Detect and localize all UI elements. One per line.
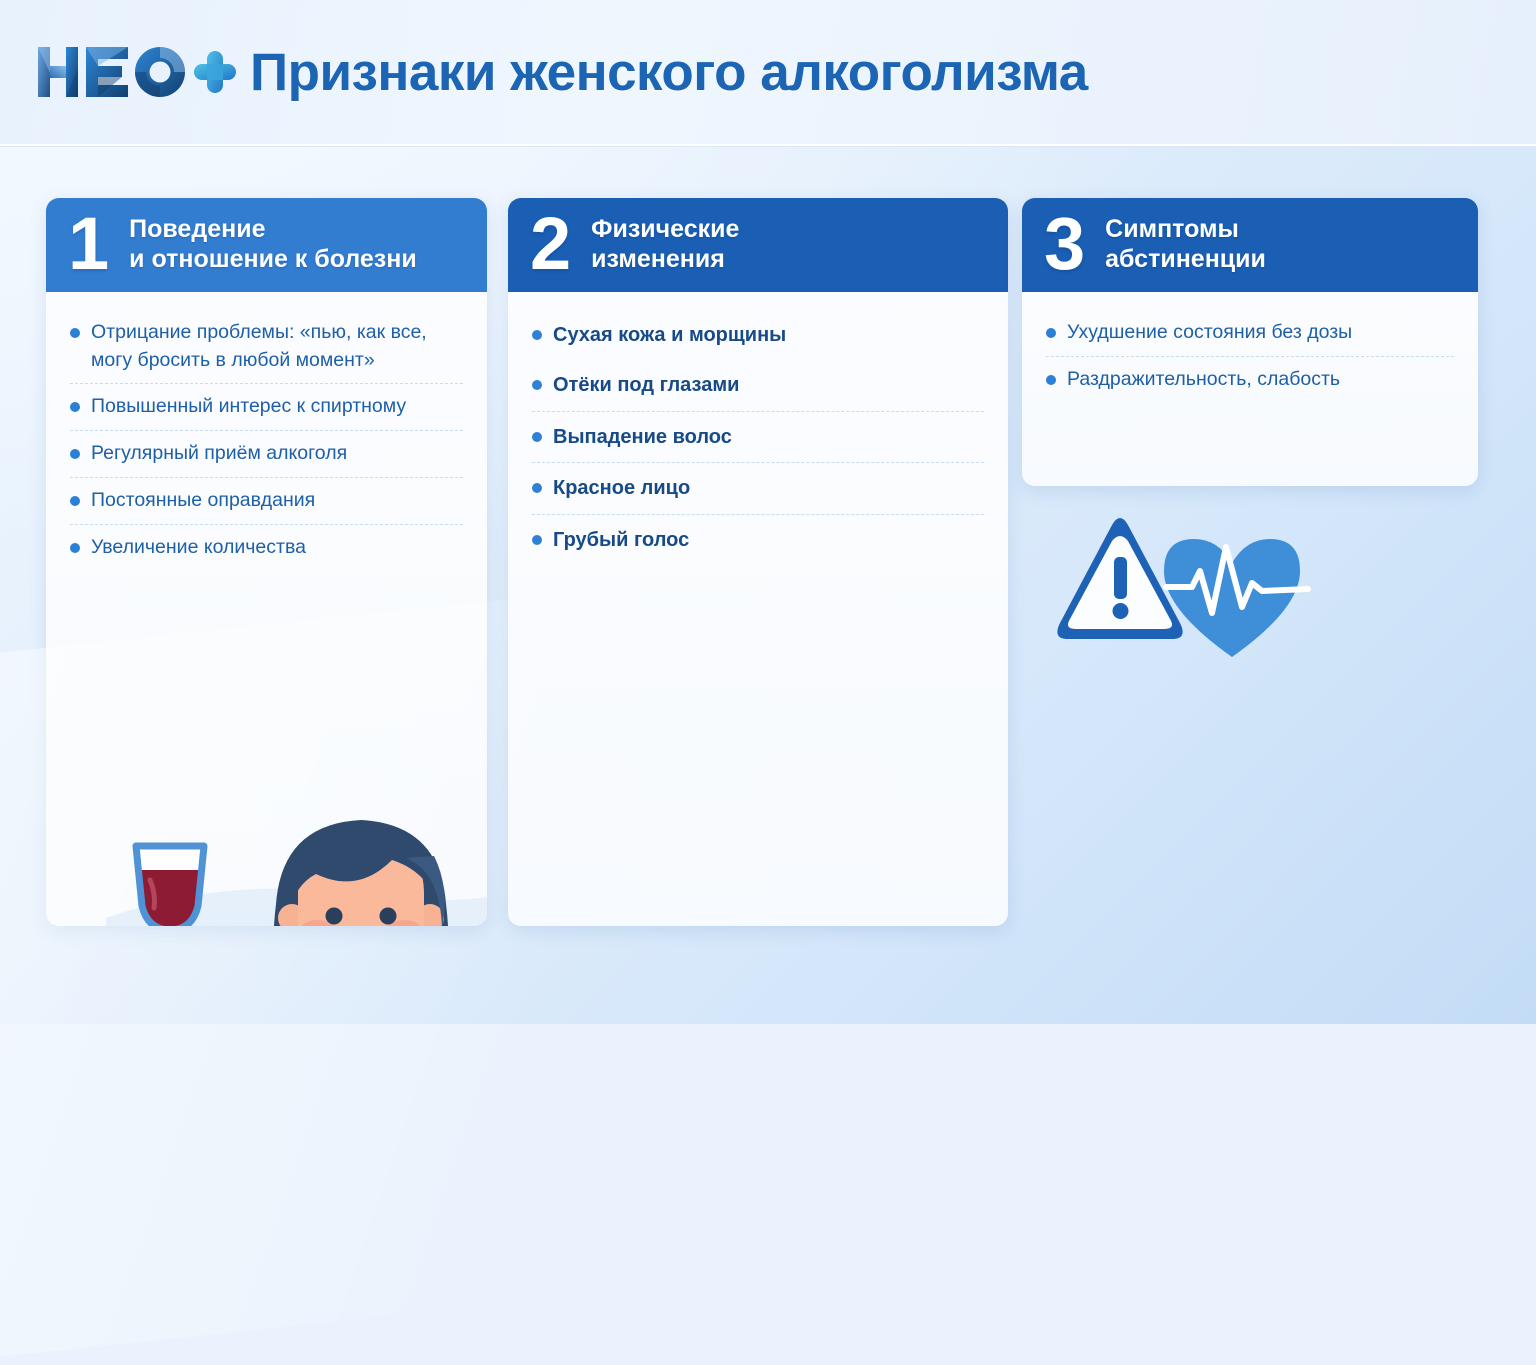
- logo-letter-n: [38, 47, 78, 97]
- bullet-icon: [532, 432, 542, 442]
- card-1-list: Отрицание проблемы: «пью, как все, могу …: [46, 292, 487, 570]
- list-item: Отёки под глазами: [530, 360, 986, 410]
- card-1-title: Поведение и отношение к болезни: [129, 214, 417, 275]
- card-1-title-line1: Поведение: [129, 214, 417, 245]
- logo-plus-icon: [194, 51, 236, 93]
- bullet-icon: [532, 330, 542, 340]
- card-1-header: 1 Поведение и отношение к болезни: [46, 198, 487, 292]
- card-3-list: Ухудшение состояния без дозы Раздражител…: [1022, 292, 1478, 402]
- bullet-icon: [532, 380, 542, 390]
- card-3-header: 3 Симптомы абстиненции: [1022, 198, 1478, 292]
- list-item: Постоянные оправдания: [68, 478, 465, 524]
- woman-eye-right: [380, 908, 397, 925]
- illustration-warning-and-heartbeat: [1046, 505, 1336, 675]
- card-2-title: Физические изменения: [591, 214, 739, 275]
- card-3-title-line2: абстиненции: [1105, 244, 1266, 275]
- list-item: Повышенный интерес к спиртному: [68, 384, 465, 430]
- list-item-label: Ухудшение состояния без дозы: [1067, 319, 1352, 347]
- bullet-icon: [532, 535, 542, 545]
- page-header: Признаки женского алкоголизма: [0, 0, 1536, 146]
- wine-glass-icon: [132, 846, 208, 926]
- bullet-icon: [70, 328, 80, 338]
- bullet-icon: [1046, 328, 1056, 338]
- list-item-label: Отёки под глазами: [553, 371, 739, 399]
- card-3-title: Симптомы абстиненции: [1105, 214, 1266, 275]
- list-item-label: Красное лицо: [553, 474, 690, 502]
- card-behavior: 1 Поведение и отношение к болезни Отрица…: [46, 198, 487, 926]
- infographic-page: Признаки женского алкоголизма 1 Поведени…: [0, 0, 1536, 1024]
- list-item-label: Регулярный приём алкоголя: [91, 440, 347, 468]
- bullet-icon: [70, 543, 80, 553]
- list-item-label: Повышенный интерес к спиртному: [91, 393, 406, 421]
- card-3-title-line1: Симптомы: [1105, 214, 1266, 245]
- list-item: Выпадение волос: [530, 412, 986, 462]
- wine-liquid: [139, 870, 201, 926]
- list-item: Регулярный приём алкоголя: [68, 431, 465, 477]
- bullet-icon: [70, 496, 80, 506]
- bullet-icon: [532, 483, 542, 493]
- card-2-header: 2 Физические изменения: [508, 198, 1008, 292]
- card-3-number: 3: [1044, 210, 1085, 278]
- card-2-title-line2: изменения: [591, 244, 739, 275]
- list-item-label: Выпадение волос: [553, 423, 732, 451]
- warning-triangle-icon: [1057, 518, 1182, 639]
- card-physical-changes: 2 Физические изменения Сухая кожа и морщ…: [508, 198, 1008, 926]
- card-withdrawal-symptoms: 3 Симптомы абстиненции Ухудшение состоян…: [1022, 198, 1478, 486]
- list-item: Увеличение количества: [68, 525, 465, 571]
- list-item-label: Сухая кожа и морщины: [553, 321, 786, 349]
- woman-hair-back: [274, 820, 449, 926]
- card-2-list: Сухая кожа и морщины Отёки под глазами В…: [508, 292, 1008, 565]
- illustration-woman-with-wine-glass: [106, 798, 487, 926]
- list-item-label: Отрицание проблемы: «пью, как все, могу …: [91, 319, 465, 374]
- list-item: Красное лицо: [530, 463, 986, 513]
- card-2-number: 2: [530, 210, 571, 278]
- list-item-label: Увеличение количества: [91, 534, 306, 562]
- list-item: Грубый голос: [530, 515, 986, 565]
- woman-face: [298, 838, 424, 926]
- bullet-icon: [1046, 375, 1056, 385]
- list-item-label: Грубый голос: [553, 526, 689, 554]
- list-item: Раздражительность, слабость: [1044, 357, 1456, 403]
- card-1-number: 1: [68, 210, 109, 278]
- heartbeat-heart-icon: [1164, 539, 1308, 657]
- neo-plus-logo: [36, 43, 236, 101]
- list-item: Отрицание проблемы: «пью, как все, могу …: [68, 310, 465, 383]
- card-1-title-line2: и отношение к болезни: [129, 244, 417, 275]
- page-title: Признаки женского алкоголизма: [250, 42, 1088, 103]
- bullet-icon: [70, 449, 80, 459]
- list-item-label: Постоянные оправдания: [91, 487, 315, 515]
- logo-letter-o: [135, 47, 185, 97]
- bullet-icon: [70, 402, 80, 412]
- list-item: Сухая кожа и морщины: [530, 310, 986, 360]
- woman-eye-left: [326, 908, 343, 925]
- card-2-title-line1: Физические: [591, 214, 739, 245]
- woman-hair-front: [292, 822, 438, 902]
- list-item-label: Раздражительность, слабость: [1067, 366, 1340, 394]
- logo-letter-e: [86, 47, 128, 97]
- list-item: Ухудшение состояния без дозы: [1044, 310, 1456, 356]
